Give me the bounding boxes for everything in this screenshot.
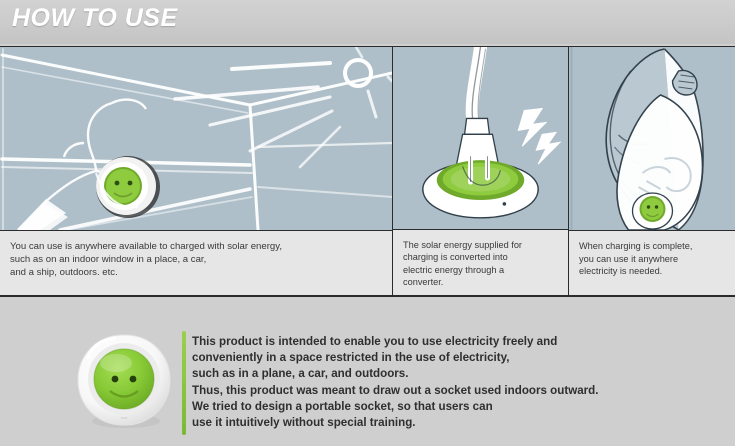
- caption-line: charging is converted into: [403, 251, 558, 264]
- caption-line: You can use is anywhere available to cha…: [10, 240, 382, 253]
- summary-line: Thus, this product was meant to draw out…: [192, 383, 722, 399]
- caption-line: When charging is complete,: [579, 240, 725, 253]
- caption-line: you can use it anywhere: [579, 253, 725, 266]
- product-illustration: eco: [72, 329, 176, 433]
- caption-line: electric energy through a: [403, 264, 558, 277]
- summary-line: conveniently in a space restricted in th…: [192, 350, 722, 366]
- page-title: HOW TO USE: [12, 4, 178, 33]
- caption-line: The solar energy supplied for: [403, 239, 558, 252]
- caption-energy-conversion: The solar energy supplied for charging i…: [393, 229, 568, 295]
- panel-energy-conversion: The solar energy supplied for charging i…: [392, 47, 568, 295]
- summary-line: such as in a plane, a car, and outdoors.: [192, 366, 722, 382]
- caption-portable-use: When charging is complete, you can use i…: [569, 230, 735, 295]
- caption-line: electricity is needed.: [579, 265, 725, 278]
- summary-line: use it intuitively without special train…: [192, 415, 722, 431]
- header-band: HOW TO USE: [0, 0, 735, 44]
- panel-solar-charging: You can use is anywhere available to cha…: [0, 47, 392, 295]
- illustration-hand-window-sun: [0, 47, 392, 230]
- svg-text:eco: eco: [121, 415, 128, 420]
- summary-text: This product is intended to enable you t…: [192, 334, 722, 431]
- caption-line: and a ship, outdoors. etc.: [10, 266, 382, 279]
- summary-line: This product is intended to enable you t…: [192, 334, 722, 350]
- panel-portable-use: When charging is complete, you can use i…: [568, 47, 735, 295]
- summary-line: We tried to design a portable socket, so…: [192, 399, 722, 415]
- socket-device-panel3: [633, 193, 673, 229]
- illustration-person-with-bag: [569, 47, 735, 230]
- illustration-plug-into-socket: [393, 47, 568, 229]
- caption-solar-charging: You can use is anywhere available to cha…: [0, 230, 392, 295]
- how-to-use-infographic: HOW TO USE: [0, 0, 735, 446]
- socket-device-panel1: [96, 156, 160, 218]
- panel-row: You can use is anywhere available to cha…: [0, 46, 735, 297]
- caption-line: converter.: [403, 276, 558, 289]
- accent-bar: [182, 331, 186, 435]
- caption-line: such as on an indoor window in a place, …: [10, 253, 382, 266]
- summary-section: eco This product is intended to enable y…: [0, 303, 735, 446]
